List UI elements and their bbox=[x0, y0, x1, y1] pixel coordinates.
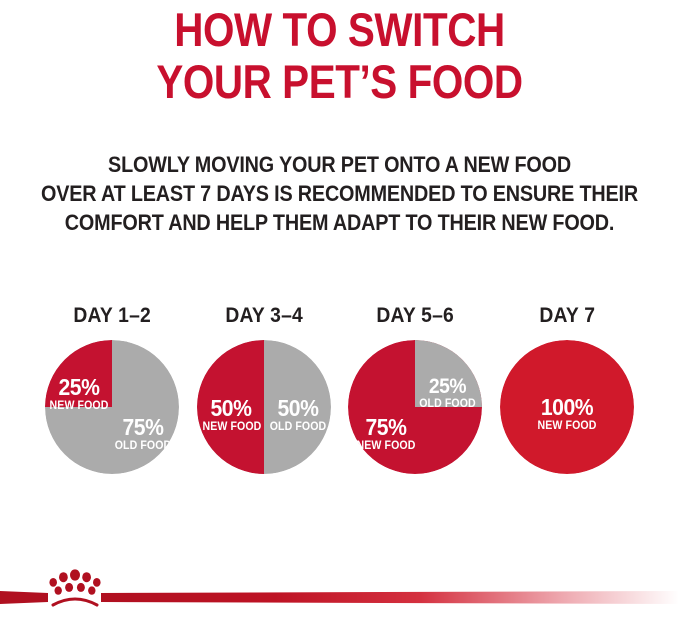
pie-label-name: NEW FOOD bbox=[537, 421, 598, 433]
pie-cell-day-5-6: DAY 5–6 25% OLD FOOD 75% NEW FOOD bbox=[345, 305, 485, 485]
pie-label-old-food-2: 50% OLD FOOD bbox=[269, 397, 326, 434]
subtitle-line-2: OVER AT LEAST 7 DAYS IS RECOMMENDED TO E… bbox=[34, 179, 645, 208]
pie-label-pct: 75% bbox=[356, 416, 417, 439]
subtitle: SLOWLY MOVING YOUR PET ONTO A NEW FOOD O… bbox=[34, 150, 645, 237]
pie-cell-day-3-4: DAY 3–4 50% NEW FOOD 50% OLD FOOD bbox=[194, 305, 334, 485]
pie-label-name: NEW FOOD bbox=[50, 401, 109, 413]
pie-label-pct: 100% bbox=[537, 396, 598, 419]
pie-label-name: OLD FOOD bbox=[269, 422, 326, 434]
page-title: HOW TO SWITCH YOUR PET’S FOOD bbox=[48, 4, 632, 108]
pie-label-name: OLD FOOD bbox=[419, 399, 477, 411]
day-label-2: DAY 3–4 bbox=[225, 305, 303, 327]
pie-label-pct: 25% bbox=[50, 376, 109, 399]
day-label-3: DAY 5–6 bbox=[377, 305, 455, 327]
page-title-line-1: HOW TO SWITCH bbox=[48, 4, 632, 56]
brand-bar-right-segment bbox=[101, 591, 679, 604]
brand-bar-left-segment bbox=[0, 591, 48, 604]
pie-label-old-food-1: 75% OLD FOOD bbox=[113, 416, 174, 453]
royal-canin-crown-icon bbox=[46, 568, 104, 608]
subtitle-line-3: COMFORT AND HELP THEM ADAPT TO THEIR NEW… bbox=[34, 208, 645, 237]
pie-chart-row: DAY 1–2 25% NEW FOOD 75% OLD FOOD DAY 3–… bbox=[0, 305, 679, 485]
day-label-1: DAY 1–2 bbox=[73, 305, 151, 327]
pie-chart-day-7: 100% NEW FOOD bbox=[500, 340, 634, 474]
pie-label-pct: 50% bbox=[269, 397, 326, 420]
pie-chart-day-1-2: 25% NEW FOOD 75% OLD FOOD bbox=[45, 340, 179, 474]
pie-label-new-food-3: 75% NEW FOOD bbox=[356, 416, 417, 453]
pie-label-old-food-3: 25% OLD FOOD bbox=[419, 376, 477, 411]
pie-cell-day-7: DAY 7 100% NEW FOOD bbox=[497, 305, 637, 485]
pie-label-new-food-2: 50% NEW FOOD bbox=[202, 397, 259, 434]
pie-label-pct: 75% bbox=[113, 416, 174, 439]
pie-chart-day-5-6: 25% OLD FOOD 75% NEW FOOD bbox=[348, 340, 482, 474]
pie-label-new-food-1: 25% NEW FOOD bbox=[50, 376, 109, 413]
footer-brand-bar bbox=[0, 591, 679, 604]
pie-label-name: NEW FOOD bbox=[202, 422, 259, 434]
pie-label-pct: 25% bbox=[419, 376, 477, 397]
pie-cell-day-1-2: DAY 1–2 25% NEW FOOD 75% OLD FOOD bbox=[42, 305, 182, 485]
pie-label-name: OLD FOOD bbox=[113, 441, 174, 453]
pie-label-pct: 50% bbox=[202, 397, 259, 420]
pie-label-name: NEW FOOD bbox=[356, 441, 417, 453]
pie-chart-day-3-4: 50% NEW FOOD 50% OLD FOOD bbox=[197, 340, 331, 474]
pie-label-new-food-4: 100% NEW FOOD bbox=[537, 396, 598, 433]
page-title-line-2: YOUR PET’S FOOD bbox=[48, 56, 632, 108]
day-label-4: DAY 7 bbox=[539, 305, 595, 327]
subtitle-line-1: SLOWLY MOVING YOUR PET ONTO A NEW FOOD bbox=[34, 150, 645, 179]
